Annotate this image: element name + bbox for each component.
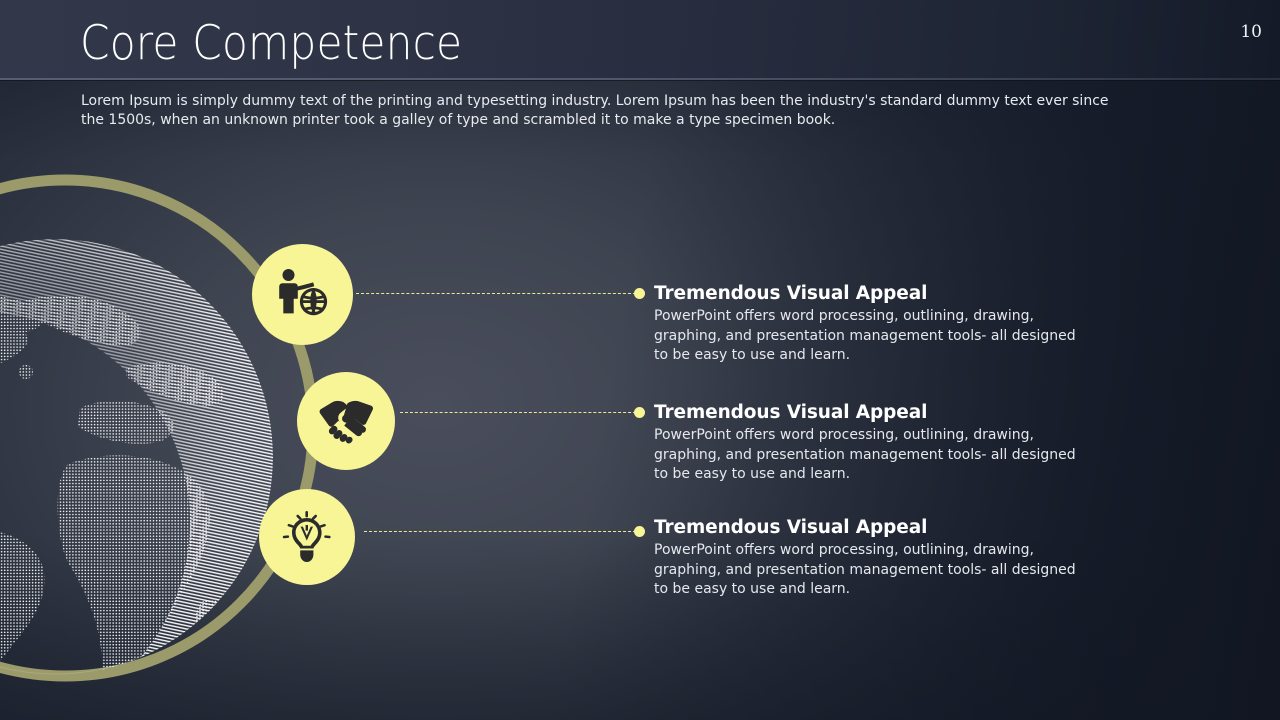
feature-body-1: PowerPoint offers word processing, outli… (654, 307, 1084, 366)
lightbulb-idea-icon (280, 511, 334, 563)
feature-body-3: PowerPoint offers word processing, outli… (654, 541, 1084, 600)
feature-heading-3: Tremendous Visual Appeal (654, 517, 1084, 539)
connector-dot-3 (634, 526, 645, 537)
person-presenting-globe-icon (274, 268, 332, 322)
intro-paragraph: Lorem Ipsum is simply dummy text of the … (81, 92, 1123, 130)
connector-line-1 (356, 293, 636, 294)
feature-heading-1: Tremendous Visual Appeal (654, 283, 1084, 305)
slide-number: 10 (1240, 22, 1262, 42)
feature-text-2: Tremendous Visual Appeal PowerPoint offe… (654, 402, 1084, 485)
connector-line-3 (364, 531, 636, 532)
slide-canvas: Core Competence 10 Lorem Ipsum is simply… (0, 0, 1280, 720)
feature-heading-2: Tremendous Visual Appeal (654, 402, 1084, 424)
page-title: Core Competence (80, 17, 462, 71)
feature-body-2: PowerPoint offers word processing, outli… (654, 426, 1084, 485)
connector-line-2 (400, 412, 636, 413)
connector-dot-1 (634, 288, 645, 299)
connector-dot-2 (634, 407, 645, 418)
feature-text-1: Tremendous Visual Appeal PowerPoint offe… (654, 283, 1084, 366)
feature-text-3: Tremendous Visual Appeal PowerPoint offe… (654, 517, 1084, 600)
icon-bubble-2[interactable] (297, 372, 395, 470)
icon-bubble-3[interactable] (259, 489, 355, 585)
header-divider-shadow (0, 80, 1280, 81)
icon-bubble-1[interactable] (252, 244, 353, 345)
handshake-icon (317, 398, 375, 444)
